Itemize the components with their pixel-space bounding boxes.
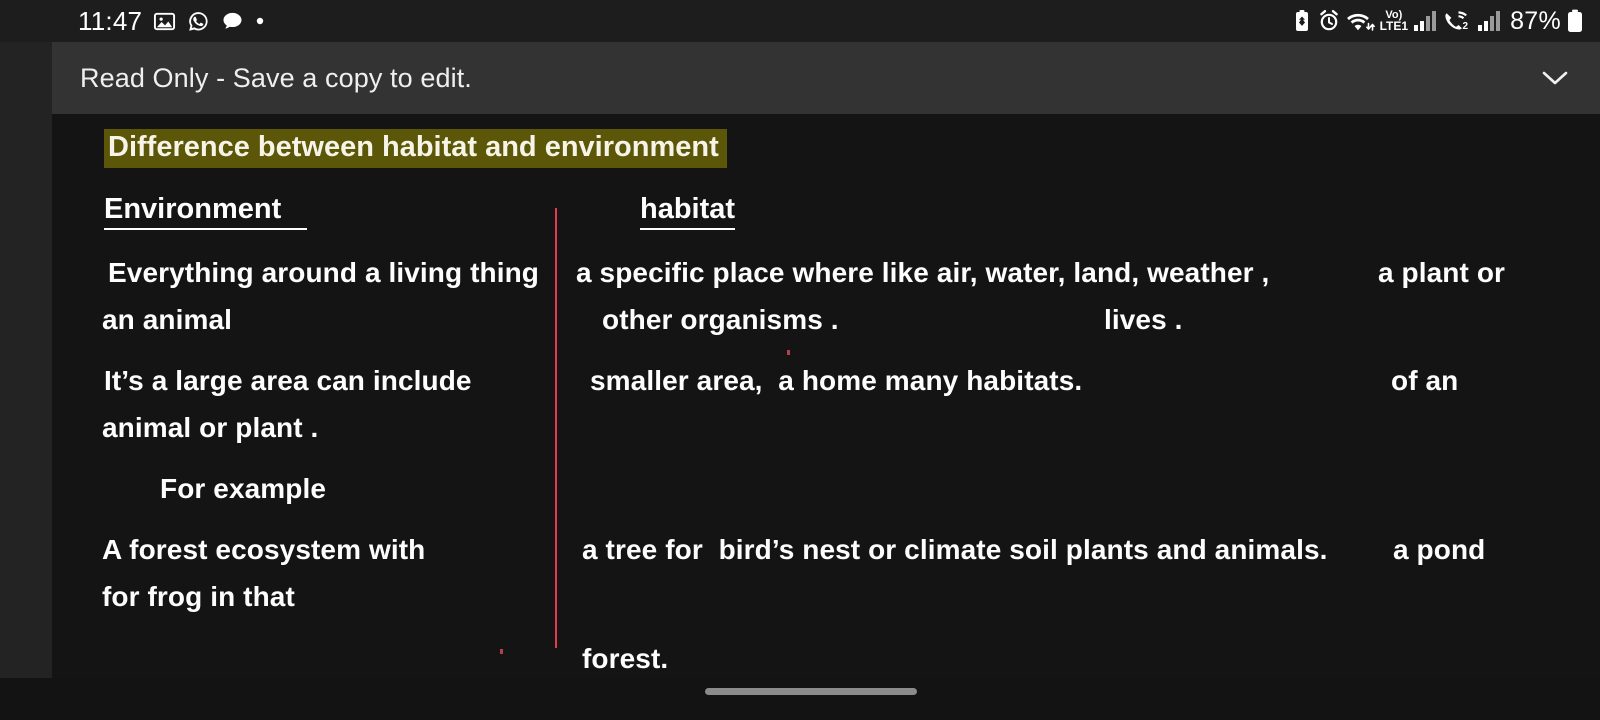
alarm-icon	[1318, 9, 1340, 33]
document-title: Difference between habitat and environme…	[104, 129, 727, 168]
status-bar: 11:47	[0, 0, 1600, 42]
volte-bottom: LTE1	[1380, 21, 1408, 32]
row-1-far-line-1: a plant or	[1378, 257, 1505, 289]
row-3-right-line-1: a tree for bird’s nest or climate soil p…	[582, 534, 1328, 566]
status-bar-left: 11:47	[78, 6, 265, 37]
read-only-banner[interactable]: Read Only - Save a copy to edit.	[52, 42, 1600, 114]
wifi-icon	[1345, 9, 1375, 33]
signal-bars-2-icon	[1477, 10, 1501, 32]
row-3-far-line-1: a pond	[1393, 534, 1485, 566]
row-3-right-tail: forest.	[582, 643, 668, 675]
battery-icon	[1566, 8, 1584, 34]
left-gutter	[0, 42, 52, 678]
chevron-down-icon[interactable]	[1532, 55, 1578, 101]
row-2-left-line-1: It’s a large area can include	[104, 365, 472, 397]
document-page: Difference between habitat and environme…	[52, 114, 1600, 678]
ink-speck	[500, 649, 503, 654]
status-bar-right: Vo) LTE1 2	[1291, 7, 1584, 36]
row-1-left-line-2: an animal	[102, 304, 232, 336]
row-3-left-line-1: A forest ecosystem with	[102, 534, 425, 566]
signal-bars-icon	[1413, 10, 1437, 32]
phone-screen: 11:47	[0, 0, 1600, 720]
dot-icon	[255, 16, 265, 26]
row-1-mid-line-2: lives .	[1104, 304, 1183, 336]
row-1-left-line-1: Everything around a living thing	[108, 257, 539, 289]
read-only-message: Read Only - Save a copy to edit.	[80, 63, 1532, 94]
row-2-far-line-1: of an	[1391, 365, 1458, 397]
photo-icon	[153, 10, 176, 33]
clock: 11:47	[78, 6, 142, 37]
column-header-environment: Environment	[104, 193, 307, 230]
chat-bubble-icon	[221, 10, 244, 33]
column-divider-line	[555, 208, 557, 648]
document-canvas[interactable]: Difference between habitat and environme…	[52, 114, 1600, 678]
row-1-right-line-2: other organisms .	[602, 304, 839, 336]
volte-label: Vo) LTE1	[1380, 10, 1408, 32]
row-1-right-line-1: a specific place where like air, water, …	[576, 257, 1269, 289]
home-indicator[interactable]	[705, 688, 917, 695]
column-header-habitat: habitat	[640, 193, 735, 230]
for-example-label: For example	[160, 473, 326, 505]
row-2-left-line-2: animal or plant .	[102, 412, 318, 444]
whatsapp-icon	[187, 10, 210, 33]
call-wifi-icon: 2	[1442, 9, 1472, 33]
svg-text:2: 2	[1463, 21, 1469, 32]
row-3-left-line-2: for frog in that	[102, 581, 295, 613]
battery-percent-label: 87%	[1510, 7, 1561, 36]
row-2-right-line-1: smaller area, a home many habitats.	[590, 365, 1082, 397]
battery-saver-icon	[1291, 9, 1313, 33]
ink-speck	[787, 350, 790, 355]
